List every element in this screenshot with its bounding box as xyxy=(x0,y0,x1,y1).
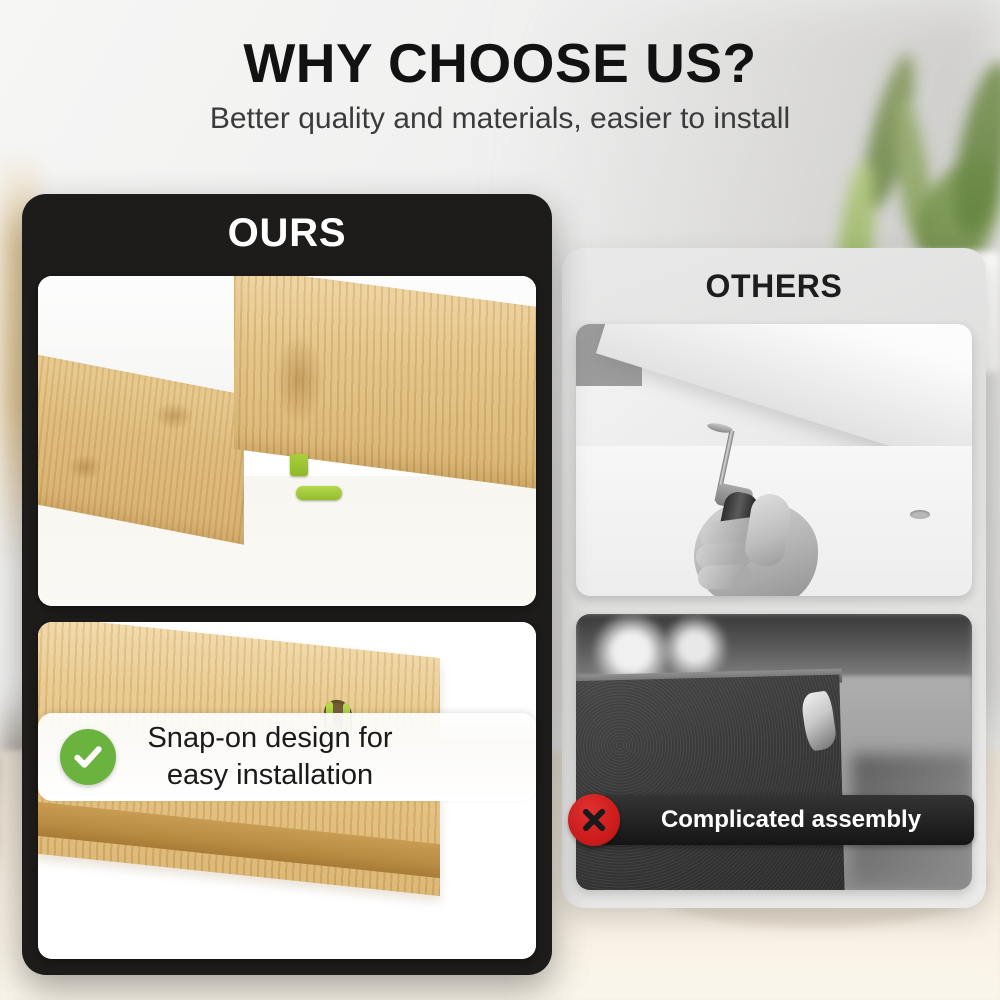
hand-finger xyxy=(698,564,753,590)
green-snap-clip-icon xyxy=(296,486,342,500)
page-subtitle: Better quality and materials, easier to … xyxy=(0,102,1000,136)
others-panel-title: OTHERS xyxy=(562,268,986,305)
others-card-2 xyxy=(576,614,972,890)
ours-photo-bamboo-corner xyxy=(38,276,536,606)
bamboo-node xyxy=(68,454,102,480)
comparison-infographic: WHY CHOOSE US? Better quality and materi… xyxy=(0,0,1000,1000)
ours-card-1 xyxy=(38,276,536,606)
page-title: WHY CHOOSE US? xyxy=(0,31,1000,95)
green-snap-clip-icon xyxy=(290,454,308,476)
check-icon xyxy=(60,729,116,785)
others-caption-1: Complicated assembly xyxy=(580,795,974,845)
cross-icon xyxy=(568,794,620,846)
others-photo-screwdriver xyxy=(576,324,972,596)
others-panel: OTHERS xyxy=(562,248,986,908)
others-card-1 xyxy=(576,324,972,596)
bamboo-node xyxy=(274,334,324,424)
photo-screw-hole xyxy=(910,510,930,519)
others-caption-1-text: Complicated assembly xyxy=(580,806,974,834)
bamboo-node xyxy=(154,402,194,430)
ours-panel-title: OURS xyxy=(22,211,552,256)
ours-panel: OURS xyxy=(22,194,552,975)
others-photo-chipped-board xyxy=(576,614,972,890)
ours-caption-1: Snap-on design for easy installation xyxy=(38,713,536,801)
